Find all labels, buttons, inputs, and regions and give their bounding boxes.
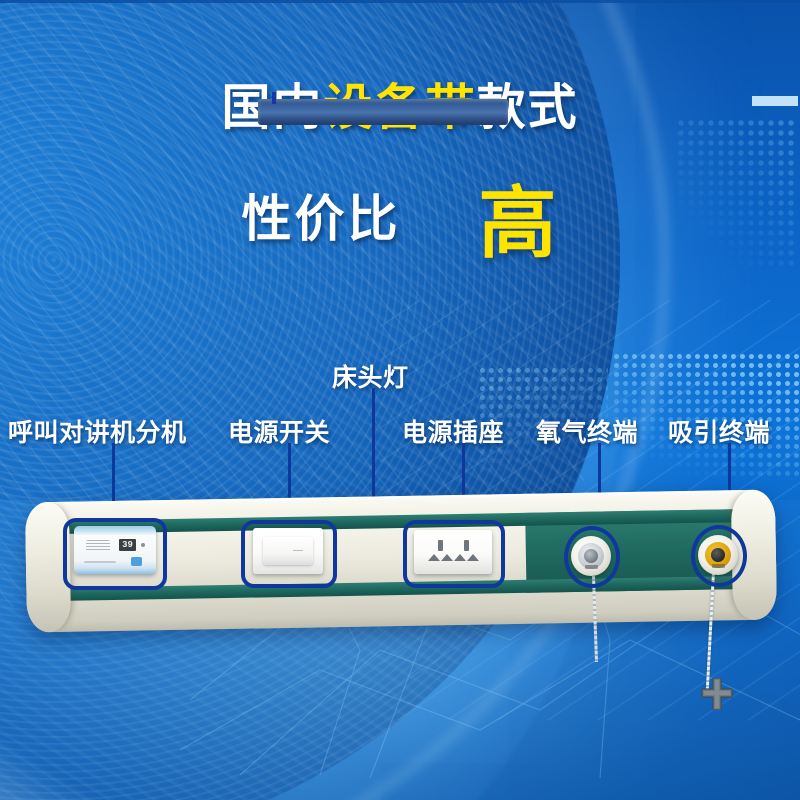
callout-label-oxygen: 氧气终端	[536, 413, 638, 449]
callout-box-intercom	[63, 518, 167, 590]
callout-box-power-socket	[403, 520, 505, 588]
promo-banner: 国内设备带款式 性价比高 呼叫对讲机分机 电源开关 床头灯 电源插座 氧气终端 …	[0, 0, 800, 800]
callout-label-power-switch: 电源开关	[228, 413, 330, 449]
subtitle-accent-text: 高	[478, 179, 558, 267]
callout-box-power-switch	[241, 520, 337, 588]
subtitle-white-text: 性价比	[241, 191, 400, 247]
callout-label-bed-lamp: 床头灯	[332, 358, 409, 394]
callout-circle-oxygen	[564, 526, 620, 588]
callout-label-power-socket: 电源插座	[402, 413, 504, 449]
callout-label-intercom: 呼叫对讲机分机	[8, 413, 187, 449]
bed-lamp-marker	[272, 92, 276, 104]
callout-circle-suction	[691, 525, 747, 587]
callout-label-suction: 吸引终端	[668, 413, 770, 449]
pull-cord-handle-icon[interactable]	[700, 678, 734, 710]
page-subtitle: 性价比高	[0, 170, 800, 248]
bed-lamp-diffuser[interactable]	[258, 99, 508, 125]
top-edge-line	[0, 0, 800, 3]
